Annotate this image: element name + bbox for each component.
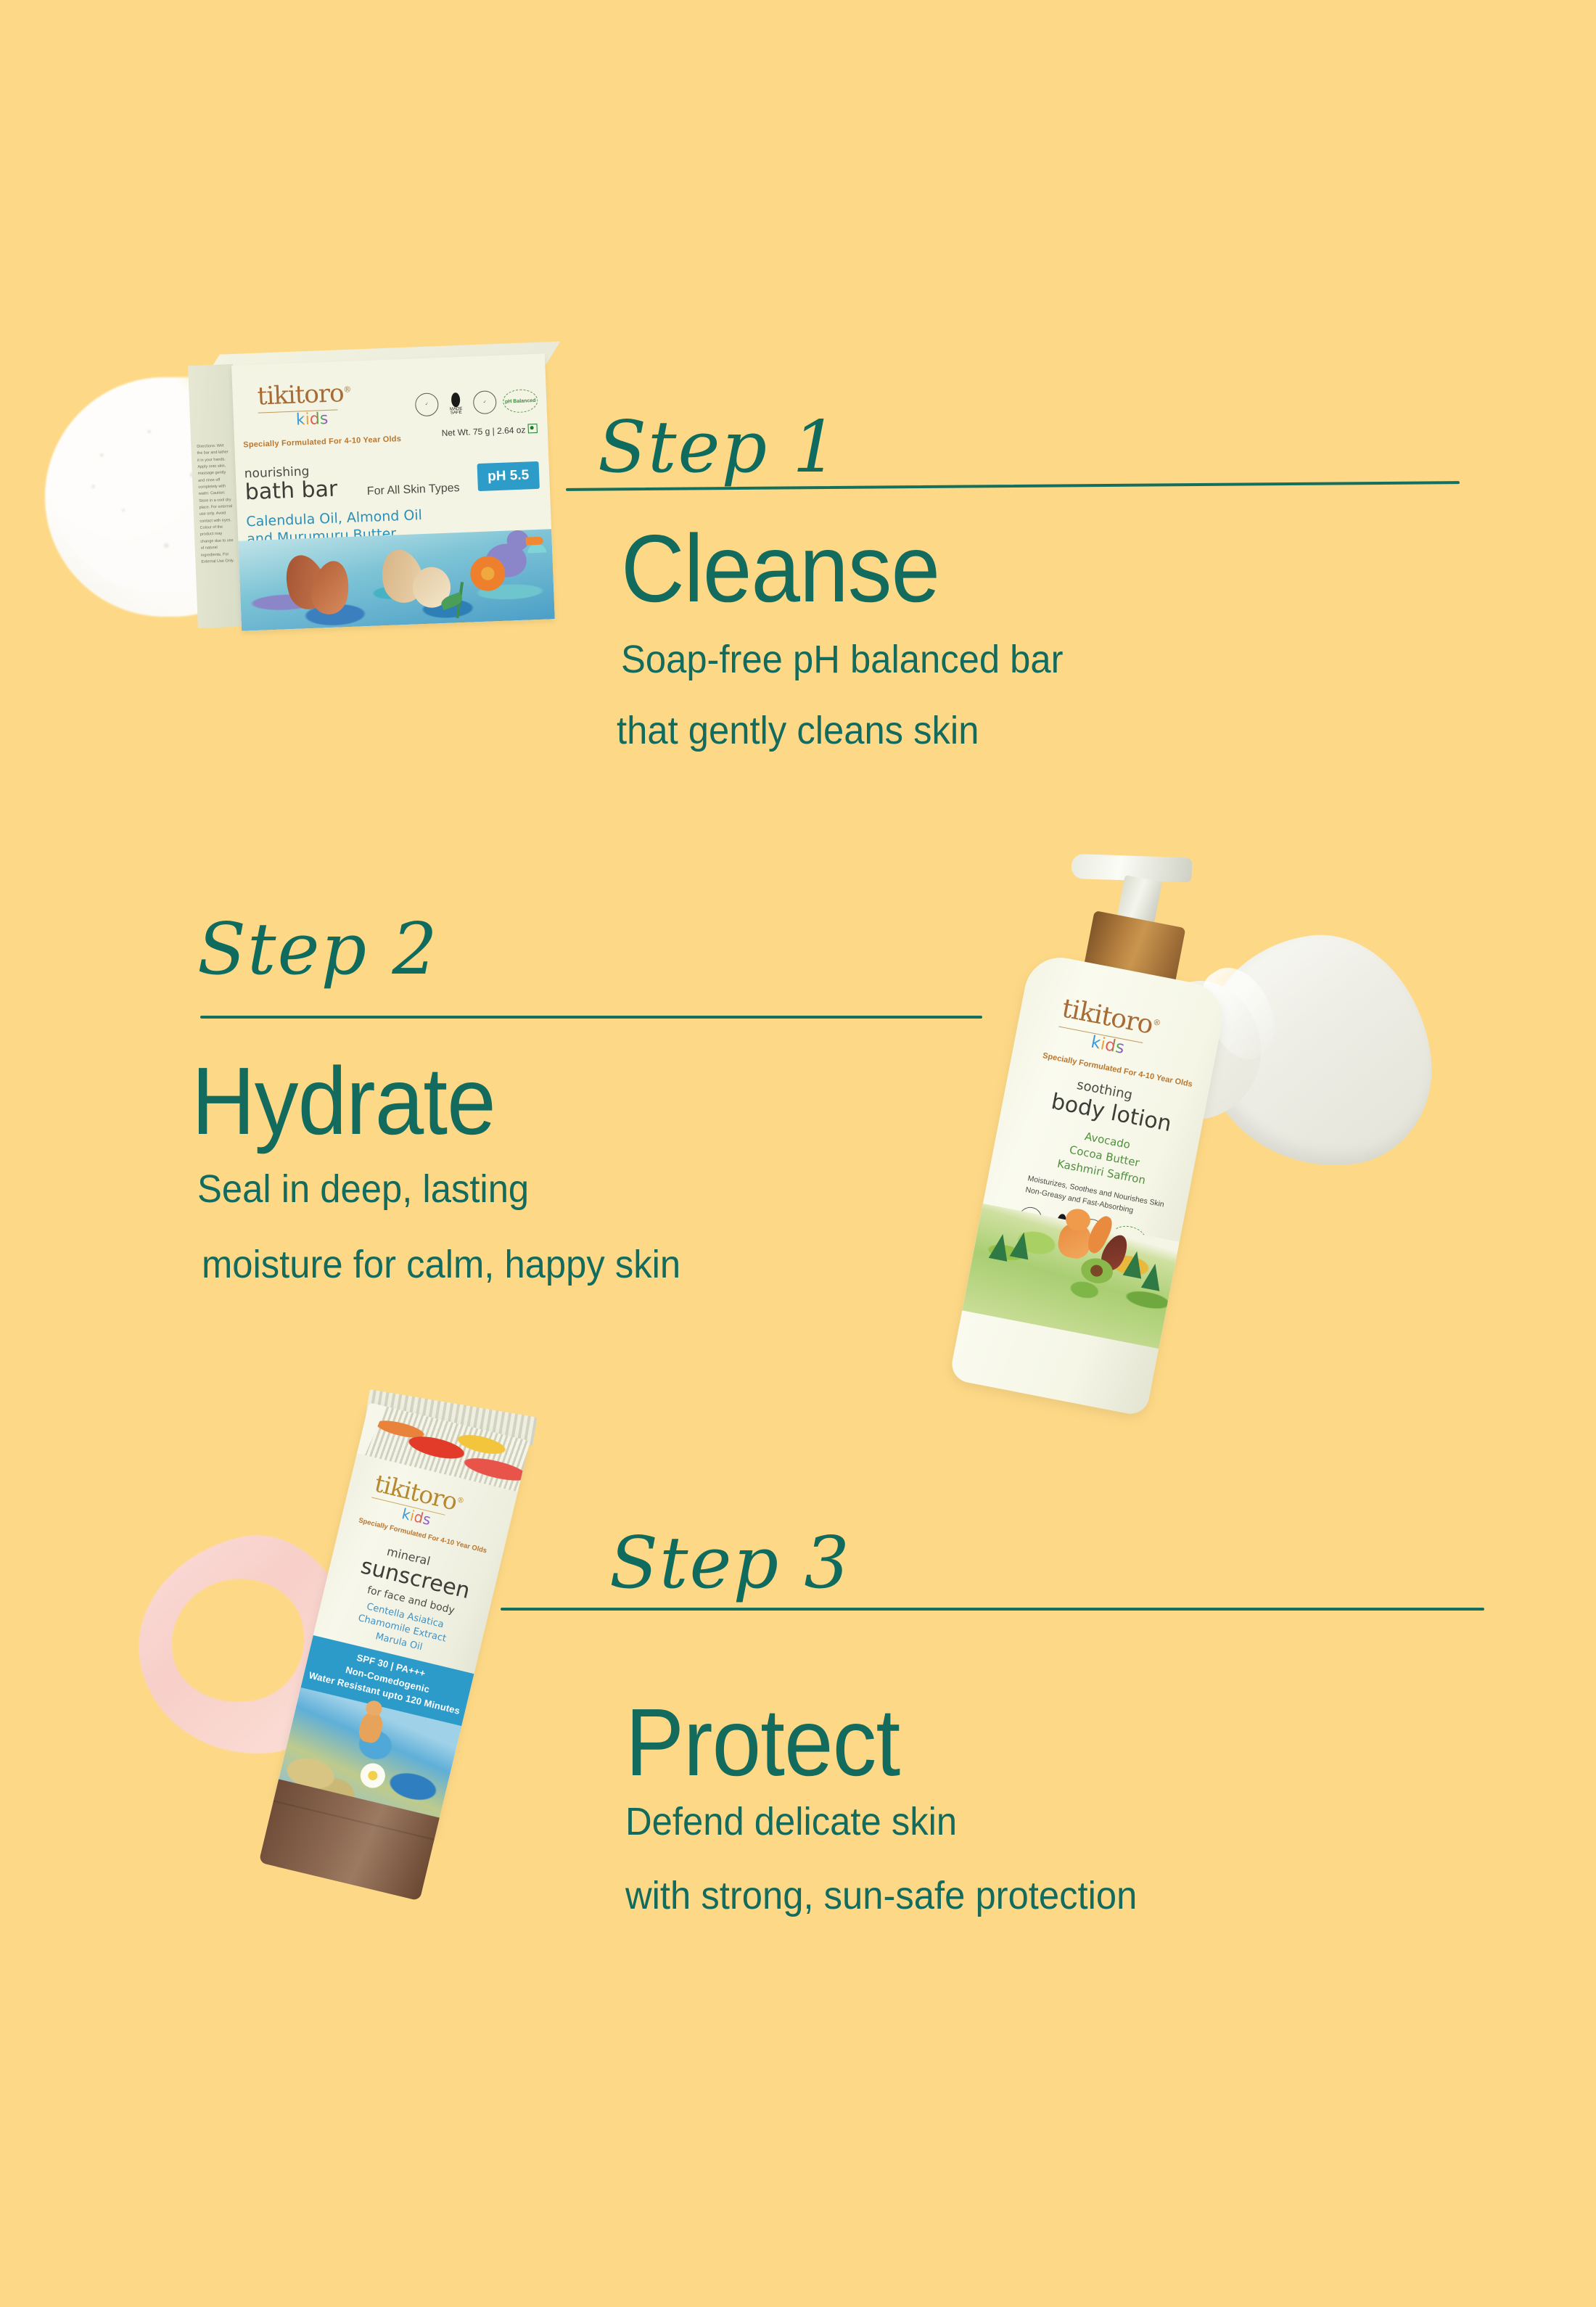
registered-mark: ® xyxy=(343,384,350,394)
bath-bar-product-box: Directions: Wet the bar and lather it in… xyxy=(188,341,583,646)
skin-types-label: For All Skin Types xyxy=(367,482,460,498)
pine-tree-icon xyxy=(1123,1249,1146,1278)
pine-tree-icon xyxy=(989,1233,1012,1262)
specially-formulated-label: Specially Formulated For 4-10 Year Olds xyxy=(243,435,401,449)
step-1-body-line-1: Soap-free pH balanced bar xyxy=(621,637,1064,682)
body-lotion-product-bottle: tikitoro® kids Specially Formulated For … xyxy=(916,817,1282,1429)
pine-tree-icon xyxy=(1141,1262,1164,1291)
ph-value-badge: pH 5.5 xyxy=(477,461,539,491)
pine-tree-icon xyxy=(1010,1230,1033,1259)
step-2-title: Hydrate xyxy=(192,1046,495,1156)
kids-wordmark: kids xyxy=(1090,1033,1126,1058)
calendula-flower-icon xyxy=(469,556,506,592)
step-3-title: Protect xyxy=(625,1687,900,1797)
registered-mark: ® xyxy=(456,1496,464,1505)
veg-mark-icon xyxy=(527,424,537,433)
squirrel-icon xyxy=(1056,1220,1093,1261)
step-2-body-line-2: moisture for calm, happy skin xyxy=(202,1242,680,1287)
svg-text:SAFE: SAFE xyxy=(451,411,462,415)
step-2-eyebrow: Step 2 xyxy=(197,908,439,991)
certification-badge-row: ✓ MADE SAFE ✓ pH Balanced xyxy=(415,389,538,416)
net-weight-value: Net Wt. 75 g | 2.64 oz xyxy=(441,425,525,438)
ph-balanced-icon: pH Balanced xyxy=(503,389,538,414)
box-front-face: ✓ MADE SAFE ✓ pH Balanced Net Wt. 75 g |… xyxy=(231,353,555,630)
step-3-body-line-1: Defend delicate skin xyxy=(625,1799,957,1844)
allergy-certified-icon: ✓ xyxy=(473,390,497,414)
bottle-body-label: tikitoro® kids Specially Formulated For … xyxy=(949,952,1228,1418)
step-3-divider xyxy=(501,1608,1484,1611)
box-side-directions-text: Directions: Wet the bar and lather it in… xyxy=(197,443,234,566)
kids-wordmark: kids xyxy=(296,410,329,429)
duck-cap-icon xyxy=(527,544,546,554)
step-1-eyebrow: Step 1 xyxy=(598,406,839,489)
brand-logo: tikitoro® xyxy=(1059,993,1162,1041)
step-3-body-line-2: with strong, sun-safe protection xyxy=(625,1873,1137,1918)
net-weight-label: Net Wt. 75 g | 2.64 oz xyxy=(441,424,538,438)
box-bottom-illustration xyxy=(238,529,554,630)
registered-mark: ® xyxy=(1152,1017,1161,1028)
step-1-title: Cleanse xyxy=(621,514,939,623)
chamomile-flower-icon xyxy=(358,1761,387,1790)
step-2-body-line-1: Seal in deep, lasting xyxy=(197,1167,529,1212)
made-safe-icon: MADE SAFE xyxy=(445,392,467,415)
product-name: bath bar xyxy=(244,477,338,506)
step-2-divider xyxy=(200,1016,982,1019)
step-1-body-line-2: that gently cleans skin xyxy=(617,708,979,753)
kangaroo-icon xyxy=(357,1710,385,1745)
step-3-eyebrow: Step 3 xyxy=(609,1522,851,1605)
brand-logo: tikitoro® xyxy=(257,379,351,411)
dermatologically-tested-icon: ✓ xyxy=(415,392,439,416)
tube-body-label: tikitoro® kids Specially Formulated For … xyxy=(274,1402,530,1836)
bottle-bottom-illustration xyxy=(962,1204,1180,1349)
routine-infographic: Directions: Wet the bar and lather it in… xyxy=(0,0,1596,2307)
